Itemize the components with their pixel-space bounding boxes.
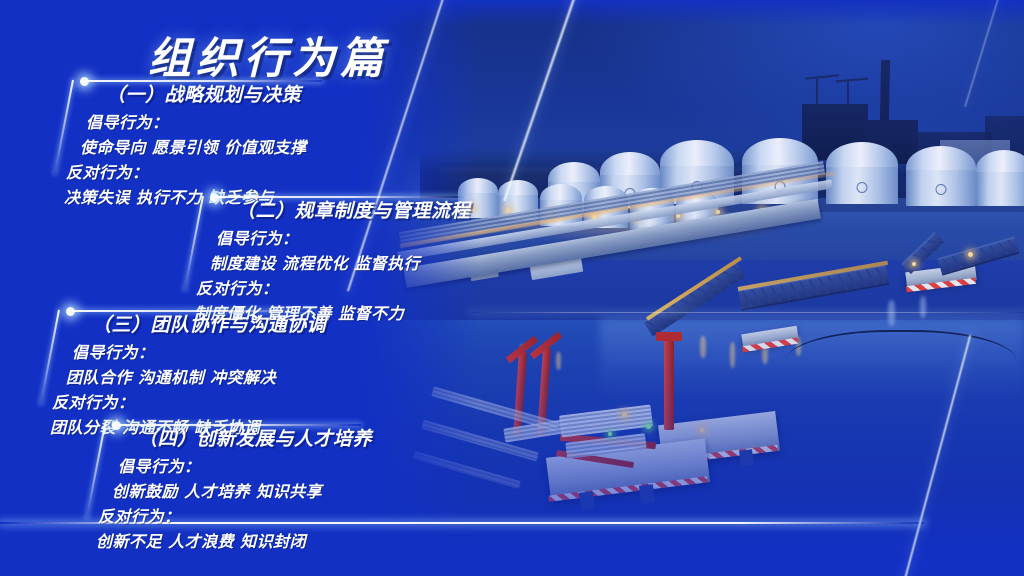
section-block-2: （二）规章制度与管理流程 倡导行为： 制度建设 流程优化 监督执行 反对行为： … [202,196,470,324]
water-reflection [700,336,706,358]
navigation-light [912,262,916,266]
encourage-items: 制度建设 流程优化 监督执行 [202,250,470,274]
oppose-label: 反对行为： [196,275,470,299]
encourage-items: 创新鼓励 人才培养 知识共享 [104,478,372,502]
terminal-lamp [676,214,680,218]
jetty-lamp [700,428,704,432]
water-reflection [888,300,895,326]
loading-arm-mast [664,338,674,430]
section-heading: （一）战略规划与决策 [92,80,307,107]
encourage-label: 倡导行为： [104,453,372,477]
terminal-lamp [506,208,510,212]
jetty-green-light [646,424,651,429]
oppose-label: 反对行为： [98,503,372,527]
platform-pile [639,484,655,504]
encourage-items: 团队合作 沟通机制 冲突解决 [58,364,326,388]
jetty-lamp [622,412,627,417]
encourage-label: 倡导行为： [202,225,470,249]
terminal-lamp [716,210,720,214]
encourage-items: 使命导向 愿景引领 价值观支撑 [72,134,307,158]
slide-canvas: 组织行为篇 （一）战略规划与决策 倡导行为： 使命导向 愿景引领 价值观支撑 反… [0,0,1024,576]
storage-tank [826,142,898,204]
section-block-1: （一）战略规划与决策 倡导行为： 使命导向 愿景引领 价值观支撑 反对行为： 决… [72,80,307,208]
section-block-3: （三）团队协作与沟通协调 倡导行为： 团队合作 沟通机制 冲突解决 反对行为： … [58,310,326,438]
containment-boom [786,330,1016,398]
section-block-4: （四）创新发展与人才培养 倡导行为： 创新鼓励 人才培养 知识共享 反对行为： … [104,424,372,552]
water-reflection [730,342,735,368]
photo-top-fade [360,0,1024,26]
section-heading: （三）团队协作与沟通协调 [78,310,326,337]
encourage-label: 倡导行为： [72,109,307,133]
jetty-green-light [608,432,612,436]
oppose-label: 反对行为： [66,159,307,183]
water-reflection [556,352,561,370]
storage-tank [976,150,1024,206]
encourage-label: 倡导行为： [58,339,326,363]
page-title: 组织行为篇 [148,24,388,86]
navigation-light [968,252,973,257]
water-reflection [920,296,926,318]
platform-pile [739,449,754,466]
loading-arm-head [656,332,682,341]
oppose-label: 反对行为： [52,389,326,413]
platform-pile [579,491,595,511]
terminal-lamp [470,206,474,210]
oppose-items: 创新不足 人才浪费 知识封闭 [96,528,372,552]
storage-tank [906,146,976,206]
section-heading: （二）规章制度与管理流程 [222,196,470,223]
section-heading: （四）创新发展与人才培养 [124,424,372,451]
